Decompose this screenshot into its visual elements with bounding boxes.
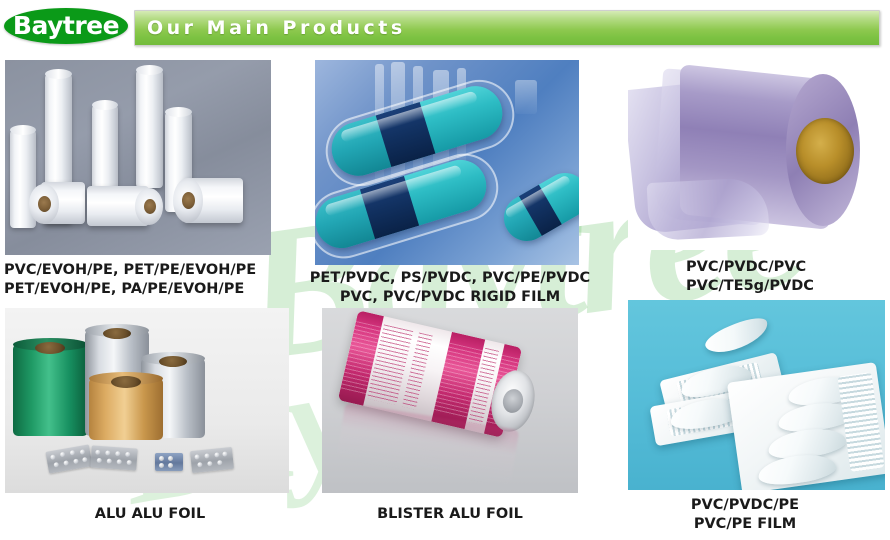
caption-line-1: PVC/EVOH/PE, PET/PE/EVOH/PE <box>4 262 256 278</box>
product-caption-6: PVC/PVDC/PE PVC/PE FILM <box>600 496 890 534</box>
logo-text: Baytree <box>13 13 119 40</box>
caption-line-2: PVC/TE5g/PVDC <box>686 277 890 296</box>
blister-alu-foil-roll-photo <box>322 308 578 493</box>
product-caption-5: BLISTER ALU FOIL <box>300 505 600 524</box>
caption-line-2: PVC/PE FILM <box>600 515 890 534</box>
caption-line-2: PVC, PVC/PVDC RIGID FILM <box>300 288 600 307</box>
purple-pvc-film-roll-photo <box>628 60 885 250</box>
section-banner: Our Main Products <box>134 10 880 46</box>
product-caption-2: PET/PVDC, PS/PVDC, PVC/PE/PVDC PVC, PVC/… <box>300 269 600 307</box>
product-cell-6[interactable]: PVC/PVDC/PE PVC/PE FILM <box>600 300 890 534</box>
alu-alu-foil-rolls-photo <box>5 308 289 493</box>
company-logo[interactable]: Baytree <box>4 8 128 44</box>
product-cell-2[interactable]: PET/PVDC, PS/PVDC, PVC/PE/PVDC PVC, PVC/… <box>300 60 600 307</box>
caption-line-1: ALU ALU FOIL <box>95 506 205 522</box>
product-grid: PVC/EVOH/PE, PET/PE/EVOH/PE PET/EVOH/PE,… <box>0 52 890 535</box>
product-cell-5[interactable]: BLISTER ALU FOIL <box>300 308 600 524</box>
product-cell-1[interactable]: PVC/EVOH/PE, PET/PE/EVOH/PE PET/EVOH/PE,… <box>0 60 300 299</box>
product-caption-3: PVC/PVDC/PVC PVC/TE5g/PVDC <box>600 258 890 296</box>
clear-barrier-film-rolls-photo <box>5 60 271 255</box>
page-header: Baytree Our Main Products <box>0 0 890 52</box>
caption-line-1: PET/PVDC, PS/PVDC, PVC/PE/PVDC <box>310 270 590 286</box>
blue-capsule-blister-pack-photo <box>315 60 579 265</box>
caption-line-1: PVC/PVDC/PVC <box>686 259 806 275</box>
product-cell-4[interactable]: ALU ALU FOIL <box>0 308 300 524</box>
product-caption-1: PVC/EVOH/PE, PET/PE/EVOH/PE PET/EVOH/PE,… <box>0 261 300 299</box>
caption-line-2: PET/EVOH/PE, PA/PE/EVOH/PE <box>4 280 300 299</box>
suppository-pvc-blister-photo <box>628 300 885 490</box>
page-title: Our Main Products <box>135 17 406 39</box>
caption-line-1: BLISTER ALU FOIL <box>377 506 523 522</box>
caption-line-1: PVC/PVDC/PE <box>691 497 799 513</box>
product-caption-4: ALU ALU FOIL <box>0 505 300 524</box>
product-cell-3[interactable]: PVC/PVDC/PVC PVC/TE5g/PVDC <box>600 60 890 296</box>
